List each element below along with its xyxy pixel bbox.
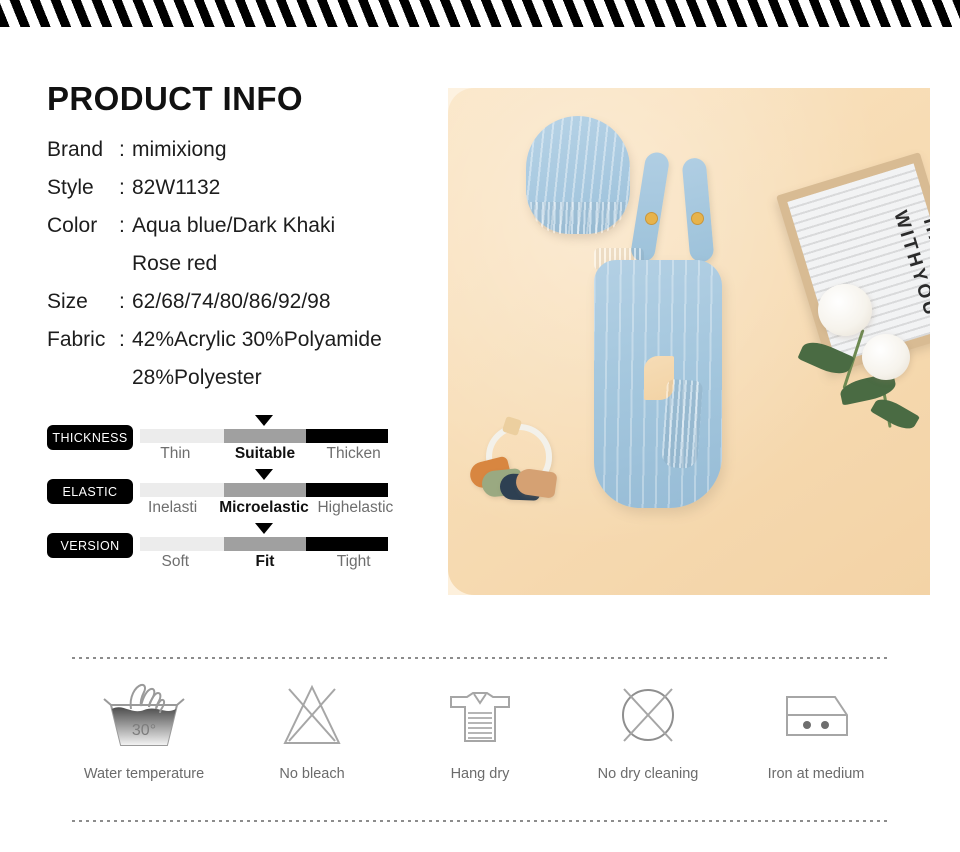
scale-label-high: Thicken xyxy=(309,445,398,463)
scale-segment-mid xyxy=(224,483,306,497)
scale-labels: Soft Fit Tight xyxy=(130,553,398,571)
care-item-iron-medium: Iron at medium xyxy=(732,677,900,782)
scale-pill-version: VERSION xyxy=(47,533,133,558)
strap-button xyxy=(645,212,658,225)
care-label: No dry cleaning xyxy=(598,766,699,782)
spec-value-color-continued: Rose red xyxy=(47,245,447,283)
diagonal-stripe-banner xyxy=(0,0,960,27)
care-instructions: 30° Water temperature No bleach xyxy=(0,637,960,852)
scale-marker-icon xyxy=(255,469,273,480)
wash-temperature-value: 30° xyxy=(132,722,156,739)
scale-track xyxy=(140,483,388,497)
strap-button xyxy=(691,212,704,225)
scale-segment-low xyxy=(140,483,224,497)
spec-value-fabric: 42%Acrylic 30%Polyamide xyxy=(132,321,382,359)
scale-segment-low xyxy=(140,537,224,551)
spec-label-fabric: Fabric xyxy=(47,321,119,359)
scale-pill-elastic: ELASTIC xyxy=(47,479,133,504)
scale-pill-thickness: THICKNESS xyxy=(47,425,133,450)
main-content: PRODUCT INFO Brand : mimixiong Style : 8… xyxy=(0,27,960,637)
no-dry-cleaning-icon xyxy=(605,677,691,753)
wash-basin-30-icon: 30° xyxy=(101,677,187,753)
scale-row-elastic: ELASTIC Inelasti Microelastic Highelasti… xyxy=(47,469,447,523)
scale-label-mid: Fit xyxy=(221,553,310,571)
care-item-no-dry-cleaning: No dry cleaning xyxy=(564,677,732,782)
divider-top xyxy=(72,657,890,659)
iron-medium-icon xyxy=(773,677,859,753)
care-label: Water temperature xyxy=(84,766,204,782)
scale-segment-mid xyxy=(224,537,306,551)
romper-leg-cuff xyxy=(661,379,703,469)
scale-row-version: VERSION Soft Fit Tight xyxy=(47,523,447,577)
spec-row-color: Color : Aqua blue/Dark Khaki xyxy=(47,207,447,245)
spec-label-style: Style xyxy=(47,169,119,207)
spec-colon-color: : xyxy=(119,207,132,245)
scale-label-high: Highelastic xyxy=(309,499,402,517)
white-flower xyxy=(818,284,872,336)
spec-value-style: 82W1132 xyxy=(132,169,220,207)
scale-label-low: Inelasti xyxy=(126,499,219,517)
spec-row-fabric: Fabric : 42%Acrylic 30%Polyamide xyxy=(47,321,447,359)
scale-track xyxy=(140,537,388,551)
scale-segment-high xyxy=(306,483,388,497)
divider-bottom xyxy=(72,820,890,822)
scale-labels: Thin Suitable Thicken xyxy=(130,445,398,463)
scale-label-low: Thin xyxy=(130,445,221,463)
care-item-no-bleach: No bleach xyxy=(228,677,396,782)
scale-label-mid: Suitable xyxy=(221,445,310,463)
spec-colon-size: : xyxy=(119,283,132,321)
spec-colon-brand: : xyxy=(119,131,132,169)
spec-colon-style: : xyxy=(119,169,132,207)
knit-beanie-hat xyxy=(526,116,630,234)
scale-marker-icon xyxy=(255,415,273,426)
spec-label-color: Color xyxy=(47,207,119,245)
scale-segment-mid xyxy=(224,429,306,443)
scale-label-high: Tight xyxy=(309,553,398,571)
spec-row-size: Size : 62/68/74/80/86/92/98 xyxy=(47,283,447,321)
spec-colon-fabric: : xyxy=(119,321,132,359)
scale-segment-high xyxy=(306,537,388,551)
spec-label-brand: Brand xyxy=(47,131,119,169)
page-title: PRODUCT INFO xyxy=(47,80,447,118)
care-label: No bleach xyxy=(279,766,344,782)
spec-value-size: 62/68/74/80/86/92/98 xyxy=(132,283,331,321)
spec-label-size: Size xyxy=(47,283,119,321)
scale-label-mid: Microelastic xyxy=(219,499,309,517)
care-label: Hang dry xyxy=(451,766,510,782)
scale-marker-icon xyxy=(255,523,273,534)
scale-segment-low xyxy=(140,429,224,443)
spec-value-brand: mimixiong xyxy=(132,131,227,169)
spec-value-fabric-continued: 28%Polyester xyxy=(47,359,447,397)
scale-row-thickness: THICKNESS Thin Suitable Thicken xyxy=(47,415,447,469)
care-item-hang-dry: Hang dry xyxy=(396,677,564,782)
spec-row-brand: Brand : mimixiong xyxy=(47,131,447,169)
no-bleach-icon xyxy=(269,677,355,753)
care-label: Iron at medium xyxy=(768,766,865,782)
hang-dry-icon xyxy=(437,677,523,753)
spec-value-color: Aqua blue/Dark Khaki xyxy=(132,207,335,245)
care-icon-row: 30° Water temperature No bleach xyxy=(60,677,900,782)
scale-labels: Inelasti Microelastic Highelastic xyxy=(126,499,402,517)
product-photo: HAPPY WITHYOU xyxy=(448,88,930,595)
care-item-water-temperature: 30° Water temperature xyxy=(60,677,228,782)
scale-segment-high xyxy=(306,429,388,443)
attribute-scales: THICKNESS Thin Suitable Thicken ELASTIC xyxy=(47,415,447,577)
white-flower xyxy=(862,334,910,380)
scale-label-low: Soft xyxy=(130,553,221,571)
product-info-panel: PRODUCT INFO Brand : mimixiong Style : 8… xyxy=(47,80,447,397)
scale-track xyxy=(140,429,388,443)
spec-row-style: Style : 82W1132 xyxy=(47,169,447,207)
